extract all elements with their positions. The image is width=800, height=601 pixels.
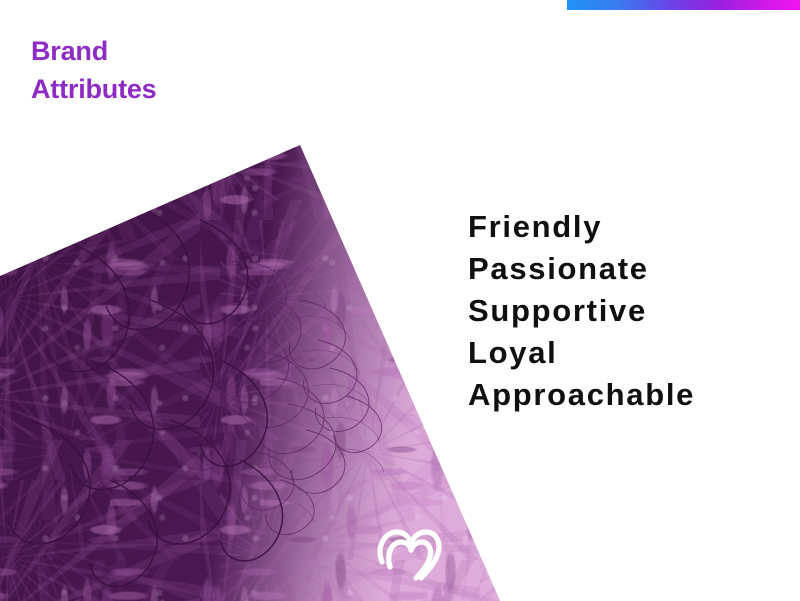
heart-m-logo (375, 522, 443, 584)
attribute-item: Loyal (468, 332, 695, 374)
attribute-item: Approachable (468, 374, 695, 416)
page-title: Brand Attributes (31, 32, 157, 108)
brand-attributes-list: Friendly Passionate Supportive Loyal App… (468, 206, 695, 416)
accent-gradient-bar (567, 0, 800, 10)
slide-canvas: Brand Attributes Friendly Passionate Sup… (0, 0, 800, 601)
attribute-item: Passionate (468, 248, 695, 290)
attribute-item: Supportive (468, 290, 695, 332)
attribute-item: Friendly (468, 206, 695, 248)
